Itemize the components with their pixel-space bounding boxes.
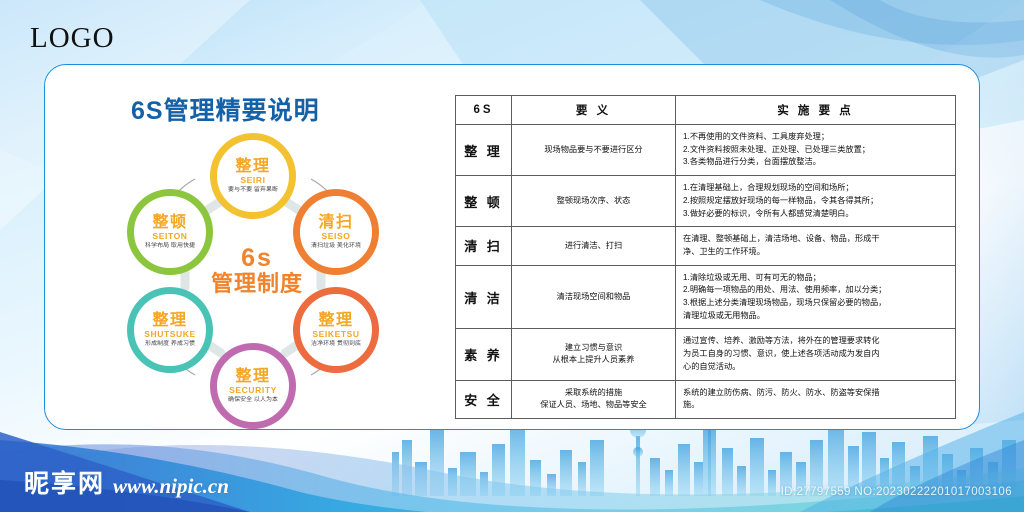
table-cell-points: 1.在清理基础上，合理规划现场的空间和场所；2.按照规定摆放好现场的每一样物品，… [676,176,956,227]
table-row: 素 养建立习惯与意识从根本上提升人员素养通过宣传、培养、激励等方法，将外在的管理… [456,329,956,380]
watermark: 昵享网 www.nipic.cn [24,464,229,500]
node-label-cn: 清扫 [318,215,353,231]
table-cell-line: 整顿现场次序、状态 [516,195,671,207]
table-cell-meaning: 建立习惯与意识从根本上提升人员素养 [512,329,676,380]
center-label-line1: 6s [198,245,316,272]
watermark-id-text: ID:27797559 NO:20230222201017003106 [781,486,1012,498]
table-header-meaning: 要 义 [512,96,676,125]
table-cell-line: 2.文件资料按照未处理、正处理、已处理三类放置； [683,144,948,157]
table-cell-line: 2.按照规定摆放好现场的每一样物品，令其各得其所； [683,195,948,208]
node-label-en: SEISO [322,232,351,241]
table-row: 安 全采取系统的措施保证人员、场地、物品等安全系统的建立防伤病、防污、防火、防水… [456,380,956,418]
table-cell-points: 在清理、整顿基础上，清洁场地、设备、物品，形成干净、卫生的工作环境。 [676,227,956,265]
table-row: 清 扫进行清洁、打扫在清理、整顿基础上，清洁场地、设备、物品，形成干净、卫生的工… [456,227,956,265]
node-seiri[interactable]: 整理 SEIRI 要与不要 留弃果断 [210,133,296,219]
table-cell-line: 在清理、整顿基础上，清洁场地、设备、物品，形成干 [683,233,948,246]
diagram-center-label: 6s 管理制度 [198,245,316,295]
table-cell-line: 清理垃圾或无用物品。 [683,310,948,323]
table-cell-key: 整 理 [456,125,512,176]
table-header-points: 实 施 要 点 [676,96,956,125]
table-cell-line: 建立习惯与意识 [516,342,671,354]
node-label-cn: 整理 [318,313,353,329]
table-cell-meaning: 现场物品要与不要进行区分 [512,125,676,176]
watermark-site-name: 昵享网 [24,464,105,500]
node-label-cn: 整顿 [152,215,187,231]
table-cell-line: 1.不再使用的文件资料、工具废弃处理； [683,131,948,144]
table-cell-key: 清 洁 [456,265,512,329]
node-label-sub: 科学布局 取用快捷 [145,243,195,249]
table-cell-key: 安 全 [456,380,512,418]
table-cell-points: 通过宣传、培养、激励等方法，将外在的管理要求转化为员工自身的习惯、意识，使上述各… [676,329,956,380]
node-label-en: SEIKETSU [312,330,359,339]
table-cell-meaning: 进行清洁、打扫 [512,227,676,265]
table-cell-line: 清洁现场空间和物品 [516,291,671,303]
table-cell-line: 为员工自身的习惯、意识，使上述各项活动成为发自内 [683,348,948,361]
table-header-6s: 6S [456,96,512,125]
node-label-sub: 形成制度 养成习惯 [145,341,195,347]
table-cell-line: 保证人员、场地、物品等安全 [516,399,671,411]
node-security[interactable]: 整理 SECURITY 确保安全 以人为本 [210,343,296,429]
table-cell-line: 1.在清理基础上，合理规划现场的空间和场所； [683,182,948,195]
table-cell-meaning: 整顿现场次序、状态 [512,176,676,227]
table-header-row: 6S 要 义 实 施 要 点 [456,96,956,125]
six-s-table: 6S 要 义 实 施 要 点 整 理现场物品要与不要进行区分1.不再使用的文件资… [455,95,956,419]
center-label-line2: 管理制度 [198,272,316,295]
table-cell-line: 2.明确每一项物品的用处、用法、使用频率，加以分类； [683,284,948,297]
node-label-en: SEITON [152,232,187,241]
table-cell-line: 净、卫生的工作环境。 [683,246,948,259]
node-label-cn: 整理 [152,313,187,329]
table-cell-key: 素 养 [456,329,512,380]
table-cell-line: 进行清洁、打扫 [516,240,671,252]
left-column: 6S管理精要说明 [45,65,445,429]
table-cell-meaning: 清洁现场空间和物品 [512,265,676,329]
node-label-cn: 整理 [235,159,270,175]
node-label-en: SHUTSUKE [144,330,196,339]
node-shutsuke[interactable]: 整理 SHUTSUKE 形成制度 养成习惯 [127,287,213,373]
table-row: 整 理现场物品要与不要进行区分1.不再使用的文件资料、工具废弃处理；2.文件资料… [456,125,956,176]
table-cell-line: 从根本上提升人员素养 [516,354,671,366]
table-cell-line: 采取系统的措施 [516,387,671,399]
node-label-en: SECURITY [229,386,277,395]
poster-canvas: LOGO 6S管理精要说明 [0,0,1024,512]
table-cell-points: 1.清除垃圾或无用、可有可无的物品；2.明确每一项物品的用处、用法、使用频率，加… [676,265,956,329]
table-cell-line: 心的自觉活动。 [683,361,948,374]
table-cell-points: 1.不再使用的文件资料、工具废弃处理；2.文件资料按照未处理、正处理、已处理三类… [676,125,956,176]
table-cell-line: 3.做好必要的标识，令所有人都感觉清楚明白。 [683,208,948,221]
node-label-en: SEIRI [240,176,265,185]
six-s-circle-diagram: 整理 SEIRI 要与不要 留弃果断 清扫 SEISO 清扫垃圾 美化环境 整理… [93,127,413,427]
table-cell-key: 清 扫 [456,227,512,265]
content-panel: 6S管理精要说明 [44,64,980,430]
node-label-cn: 整理 [235,369,270,385]
table-cell-meaning: 采取系统的措施保证人员、场地、物品等安全 [512,380,676,418]
node-label-sub: 确保安全 以人为本 [228,397,278,403]
table-cell-line: 现场物品要与不要进行区分 [516,144,671,156]
table-cell-line: 通过宣传、培养、激励等方法，将外在的管理要求转化 [683,335,948,348]
table-cell-line: 1.清除垃圾或无用、可有可无的物品； [683,272,948,285]
brand-logo: LOGO [30,22,115,55]
table-row: 整 顿整顿现场次序、状态1.在清理基础上，合理规划现场的空间和场所；2.按照规定… [456,176,956,227]
six-s-table-wrapper: 6S 要 义 实 施 要 点 整 理现场物品要与不要进行区分1.不再使用的文件资… [455,95,955,419]
table-cell-line: 施。 [683,399,948,412]
table-cell-line: 系统的建立防伤病、防污、防火、防水、防盗等安保措 [683,387,948,400]
table-cell-points: 系统的建立防伤病、防污、防火、防水、防盗等安保措施。 [676,380,956,418]
table-cell-line: 3.各类物品进行分类，台面摆放整洁。 [683,156,948,169]
table-cell-line: 3.根据上述分类清理现场物品，现场只保留必要的物品， [683,297,948,310]
node-label-sub: 清扫垃圾 美化环境 [311,243,361,249]
table-body: 整 理现场物品要与不要进行区分1.不再使用的文件资料、工具废弃处理；2.文件资料… [456,125,956,419]
table-row: 清 洁清洁现场空间和物品1.清除垃圾或无用、可有可无的物品；2.明确每一项物品的… [456,265,956,329]
watermark-site-url: www.nipic.cn [113,474,229,499]
node-label-sub: 要与不要 留弃果断 [228,187,278,193]
page-title: 6S管理精要说明 [131,91,320,127]
node-seiketsu[interactable]: 整理 SEIKETSU 洁净环境 贯彻到底 [293,287,379,373]
table-cell-key: 整 顿 [456,176,512,227]
node-label-sub: 洁净环境 贯彻到底 [311,341,361,347]
